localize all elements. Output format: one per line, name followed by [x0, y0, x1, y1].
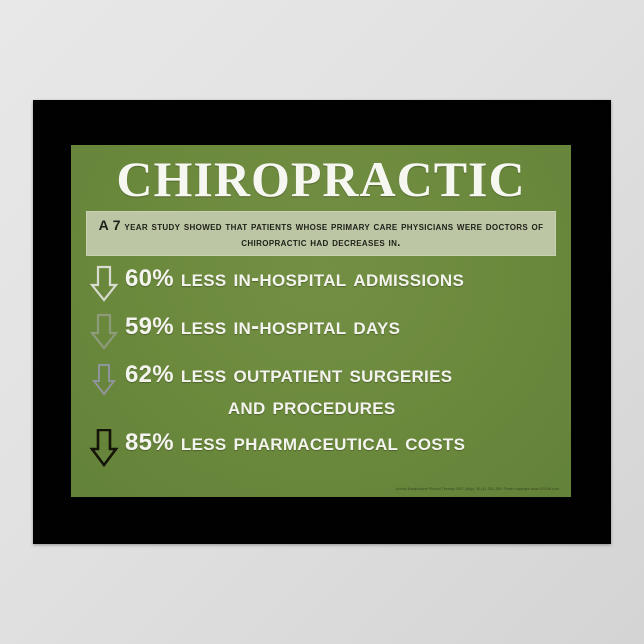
- poster-frame: CHIROPRACTIC A 7 year study showed that …: [33, 100, 611, 544]
- subtitle-text: A 7 year study showed that patients whos…: [86, 217, 556, 251]
- subtitle-rest: year study showed that patients whose pr…: [124, 221, 543, 249]
- stat-text: 85% Less pharmaceutical costs: [125, 427, 465, 459]
- list-item: 85% Less pharmaceutical costs: [71, 427, 571, 475]
- stat-text: 62% Less outpatient surgeries and proced…: [125, 359, 452, 423]
- list-item: 60% Less in-hospital admissions: [71, 263, 571, 311]
- down-arrow-icon: [89, 313, 119, 351]
- stat-label: Less in-hospital admissions: [181, 265, 464, 292]
- down-arrow-icon: [89, 265, 119, 303]
- stat-text: 59% Less in-hospital days: [125, 311, 400, 343]
- stat-label-continued: and procedures: [125, 391, 452, 423]
- stat-percent: 60%: [125, 265, 174, 292]
- list-item: 62% Less outpatient surgeries and proced…: [71, 359, 571, 427]
- page-title: CHIROPRACTIC: [71, 151, 571, 207]
- stat-text: 60% Less in-hospital admissions: [125, 263, 464, 295]
- subtitle-band: A 7 year study showed that patients whos…: [86, 211, 556, 256]
- stats-list: 60% Less in-hospital admissions 59% Less…: [71, 263, 571, 475]
- fine-print-citation: Journal Manipulative Physiol Therapy 200…: [395, 486, 559, 492]
- down-arrow-icon: [89, 361, 119, 399]
- stat-percent: 62%: [125, 361, 174, 388]
- stat-label: Less pharmaceutical costs: [181, 429, 465, 456]
- list-item: 59% Less in-hospital days: [71, 311, 571, 359]
- poster-panel: CHIROPRACTIC A 7 year study showed that …: [71, 145, 571, 497]
- stat-percent: 85%: [125, 429, 174, 456]
- down-arrow-icon: [89, 429, 119, 467]
- stat-label: Less in-hospital days: [181, 313, 400, 340]
- subtitle-lead: A 7: [99, 217, 121, 233]
- stat-percent: 59%: [125, 313, 174, 340]
- stat-label: Less outpatient surgeries: [181, 361, 452, 388]
